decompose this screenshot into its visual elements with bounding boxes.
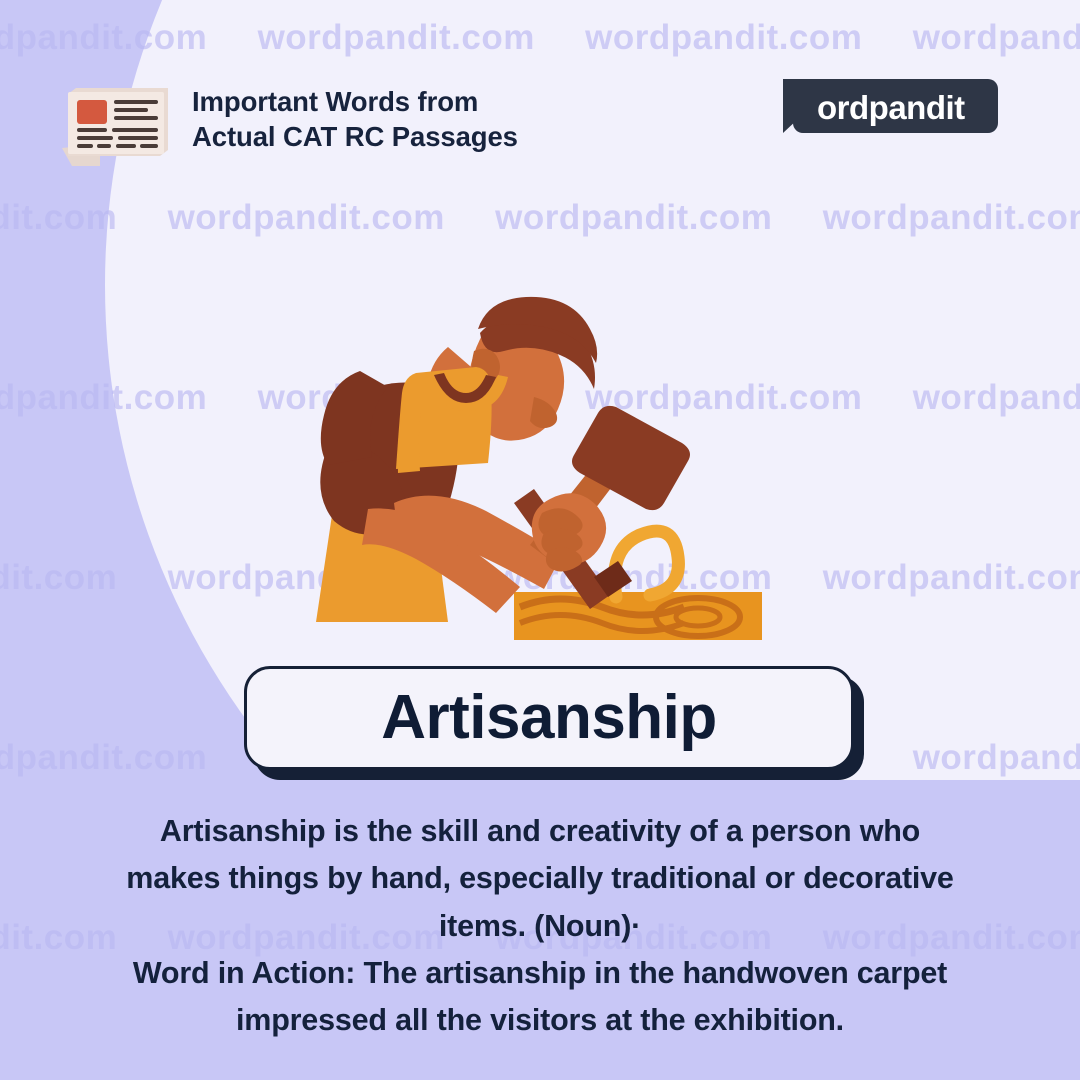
example-line-2: impressed all the visitors at the exhibi…: [26, 997, 1054, 1044]
wood-shaving-curl: [614, 531, 678, 597]
wordpandit-logo[interactable]: ordpandit: [779, 75, 1001, 137]
word-card: Artisanship: [244, 666, 854, 774]
craftsman-carving-wood-illustration: [298, 277, 768, 649]
word-title: Artisanship: [381, 687, 717, 749]
definition-line-3: items. (Noun)·: [26, 903, 1054, 950]
page-title-line-1: Important Words from: [192, 86, 478, 117]
wood-plank: [514, 592, 762, 640]
page-title: Important Words from Actual CAT RC Passa…: [192, 84, 518, 154]
newspaper-icon: [56, 70, 178, 170]
word-card-face: Artisanship: [244, 666, 854, 770]
header: Important Words from Actual CAT RC Passa…: [0, 62, 1080, 172]
example-line-1: Word in Action: The artisanship in the h…: [26, 950, 1054, 997]
apron-bib: [396, 367, 508, 473]
definition-line-1: Artisanship is the skill and creativity …: [26, 808, 1054, 855]
page-title-line-2: Actual CAT RC Passages: [192, 121, 518, 152]
definition-text: Artisanship is the skill and creativity …: [26, 808, 1054, 1044]
definition-line-2: makes things by hand, especially traditi…: [26, 855, 1054, 902]
svg-text:ordpandit: ordpandit: [817, 89, 965, 126]
